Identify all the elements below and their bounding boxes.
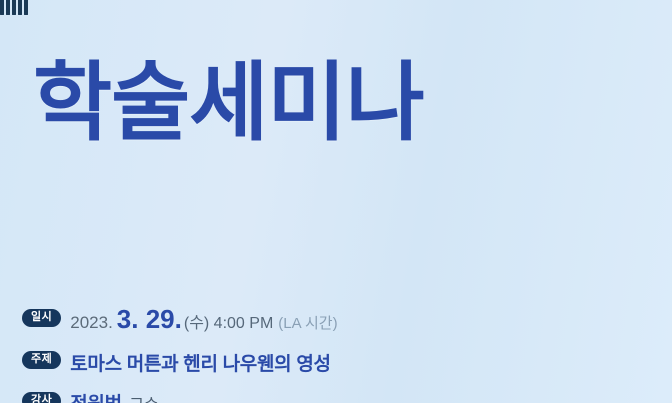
speaker-value: 정원범 교수 전 대전신학대학교 교수, 교회와사회연구소 소장 사단법인 샬롬…	[70, 387, 330, 403]
logo-bar	[12, 0, 16, 15]
speaker-title: 교수	[129, 397, 158, 403]
date-weekday-time: (수) 4:00 PM	[184, 309, 273, 333]
organization-logo	[0, 0, 660, 15]
date-timezone: (LA 시간)	[278, 312, 337, 333]
info-row-subject: 주제 토마스 머튼과 헨리 나우웬의 영성	[22, 346, 382, 376]
logo-bar	[0, 0, 4, 15]
info-row-speaker: 강사 정원범 교수 전 대전신학대학교 교수, 교회와사회연구소 소장 사단법인…	[22, 387, 382, 403]
logo-bar	[6, 0, 10, 15]
info-list: 일시 2023. 3. 29. (수) 4:00 PM (LA 시간) 주제 토…	[22, 304, 382, 403]
subject-text: 토마스 머튼과 헨리 나우웬의 영성	[70, 349, 330, 376]
logo-bar	[18, 0, 22, 15]
badge-date: 일시	[22, 309, 61, 327]
date-month-day: 3. 29.	[117, 304, 182, 335]
page-title: 학술세미나	[33, 60, 672, 146]
date-year: 2023.	[70, 313, 113, 333]
date-value: 2023. 3. 29. (수) 4:00 PM (LA 시간)	[70, 304, 337, 335]
info-row-date: 일시 2023. 3. 29. (수) 4:00 PM (LA 시간)	[22, 304, 382, 335]
logo-bar	[24, 0, 28, 15]
badge-subject: 주제	[22, 351, 61, 369]
seminar-poster: 학술세미나 일시 2023. 3. 29. (수) 4:00 PM (LA 시간…	[0, 0, 672, 403]
speaker-name: 정원범	[70, 394, 122, 403]
subject-value: 토마스 머튼과 헨리 나우웬의 영성	[70, 346, 330, 376]
badge-speaker: 강사	[22, 392, 61, 403]
